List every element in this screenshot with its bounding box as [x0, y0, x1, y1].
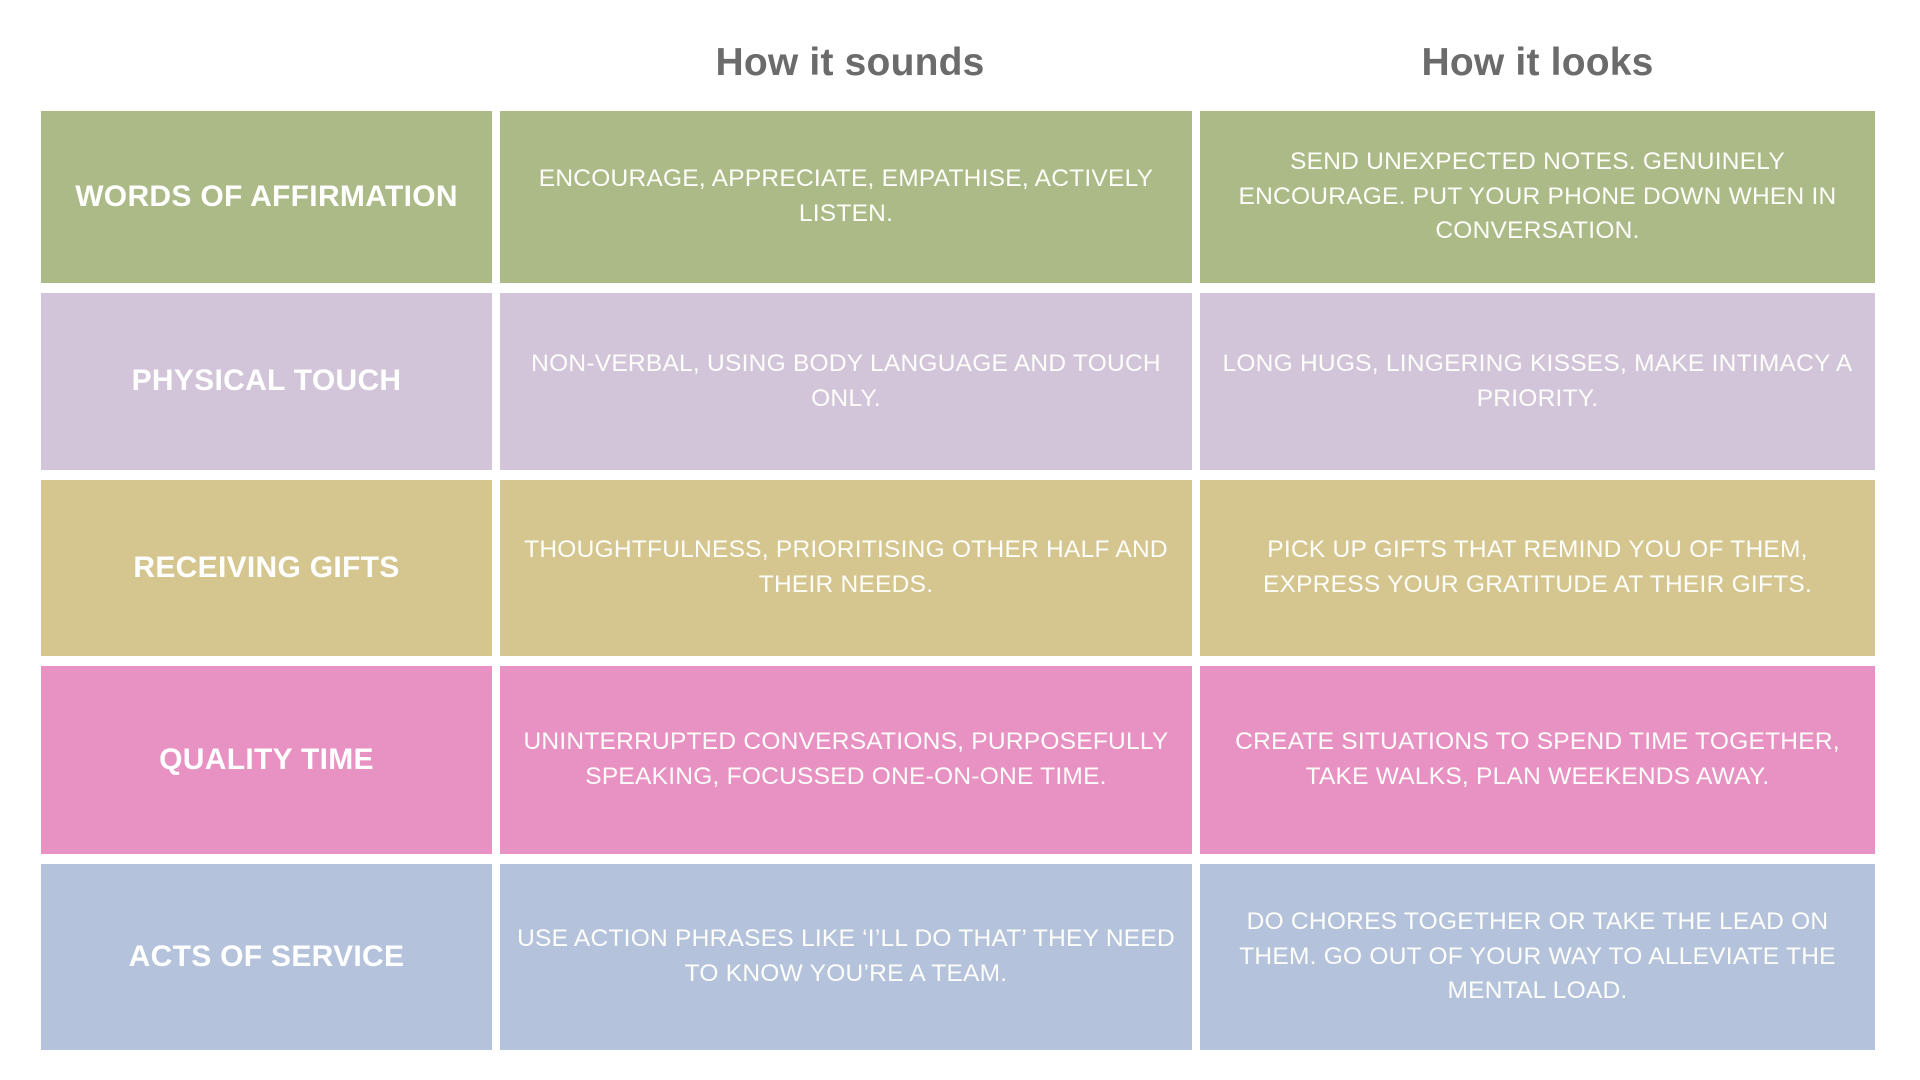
row-how-it-looks-cell: CREATE SITUATIONS TO SPEND TIME TOGETHER…	[1200, 666, 1875, 854]
row-title-cell: ACTS OF SERVICE	[41, 864, 492, 1050]
row-how-it-looks-cell: SEND UNEXPECTED NOTES. GENUINELY ENCOURA…	[1200, 111, 1875, 283]
love-languages-table: WORDS OF AFFIRMATION ENCOURAGE, APPRECIA…	[41, 111, 1875, 1050]
row-how-it-sounds-label: USE ACTION PHRASES LIKE ‘I’LL DO THAT’ T…	[514, 922, 1178, 992]
table-row: WORDS OF AFFIRMATION ENCOURAGE, APPRECIA…	[41, 111, 1875, 283]
row-how-it-looks-label: CREATE SITUATIONS TO SPEND TIME TOGETHER…	[1214, 725, 1861, 795]
row-how-it-sounds-label: UNINTERRUPTED CONVERSATIONS, PURPOSEFULL…	[514, 725, 1178, 795]
header-cell-how-it-sounds: How it sounds	[500, 30, 1200, 96]
table-column-headers: How it sounds How it looks	[41, 30, 1875, 96]
row-title-label: QUALITY TIME	[159, 738, 374, 782]
row-how-it-looks-cell: DO CHORES TOGETHER OR TAKE THE LEAD ON T…	[1200, 864, 1875, 1050]
row-title-cell: WORDS OF AFFIRMATION	[41, 111, 492, 283]
row-title-label: PHYSICAL TOUCH	[132, 359, 402, 403]
row-title-cell: PHYSICAL TOUCH	[41, 293, 492, 470]
row-title-cell: RECEIVING GIFTS	[41, 480, 492, 656]
row-title-cell: QUALITY TIME	[41, 666, 492, 854]
row-how-it-sounds-label: NON-VERBAL, USING BODY LANGUAGE AND TOUC…	[514, 347, 1178, 417]
row-how-it-sounds-label: THOUGHTFULNESS, PRIORITISING OTHER HALF …	[514, 533, 1178, 603]
row-how-it-sounds-cell: USE ACTION PHRASES LIKE ‘I’LL DO THAT’ T…	[500, 864, 1192, 1050]
love-languages-table-page: How it sounds How it looks WORDS OF AFFI…	[0, 0, 1920, 1080]
table-row: RECEIVING GIFTS THOUGHTFULNESS, PRIORITI…	[41, 480, 1875, 656]
row-how-it-looks-label: PICK UP GIFTS THAT REMIND YOU OF THEM, E…	[1214, 533, 1861, 603]
header-label-how-it-sounds: How it sounds	[715, 41, 984, 85]
row-title-label: WORDS OF AFFIRMATION	[75, 175, 458, 219]
row-how-it-looks-label: DO CHORES TOGETHER OR TAKE THE LEAD ON T…	[1214, 905, 1861, 1009]
header-label-how-it-looks: How it looks	[1421, 41, 1653, 85]
header-cell-how-it-looks: How it looks	[1200, 30, 1875, 96]
row-how-it-sounds-cell: THOUGHTFULNESS, PRIORITISING OTHER HALF …	[500, 480, 1192, 656]
row-title-label: ACTS OF SERVICE	[129, 935, 405, 979]
row-how-it-sounds-label: ENCOURAGE, APPRECIATE, EMPATHISE, ACTIVE…	[514, 162, 1178, 232]
row-how-it-looks-label: LONG HUGS, LINGERING KISSES, MAKE INTIMA…	[1214, 347, 1861, 417]
table-row: PHYSICAL TOUCH NON-VERBAL, USING BODY LA…	[41, 293, 1875, 470]
table-row: ACTS OF SERVICE USE ACTION PHRASES LIKE …	[41, 864, 1875, 1050]
row-how-it-sounds-cell: ENCOURAGE, APPRECIATE, EMPATHISE, ACTIVE…	[500, 111, 1192, 283]
row-how-it-looks-cell: PICK UP GIFTS THAT REMIND YOU OF THEM, E…	[1200, 480, 1875, 656]
row-title-label: RECEIVING GIFTS	[133, 546, 399, 590]
table-row: QUALITY TIME UNINTERRUPTED CONVERSATIONS…	[41, 666, 1875, 854]
row-how-it-looks-cell: LONG HUGS, LINGERING KISSES, MAKE INTIMA…	[1200, 293, 1875, 470]
row-how-it-looks-label: SEND UNEXPECTED NOTES. GENUINELY ENCOURA…	[1214, 145, 1861, 249]
row-how-it-sounds-cell: NON-VERBAL, USING BODY LANGUAGE AND TOUC…	[500, 293, 1192, 470]
row-how-it-sounds-cell: UNINTERRUPTED CONVERSATIONS, PURPOSEFULL…	[500, 666, 1192, 854]
